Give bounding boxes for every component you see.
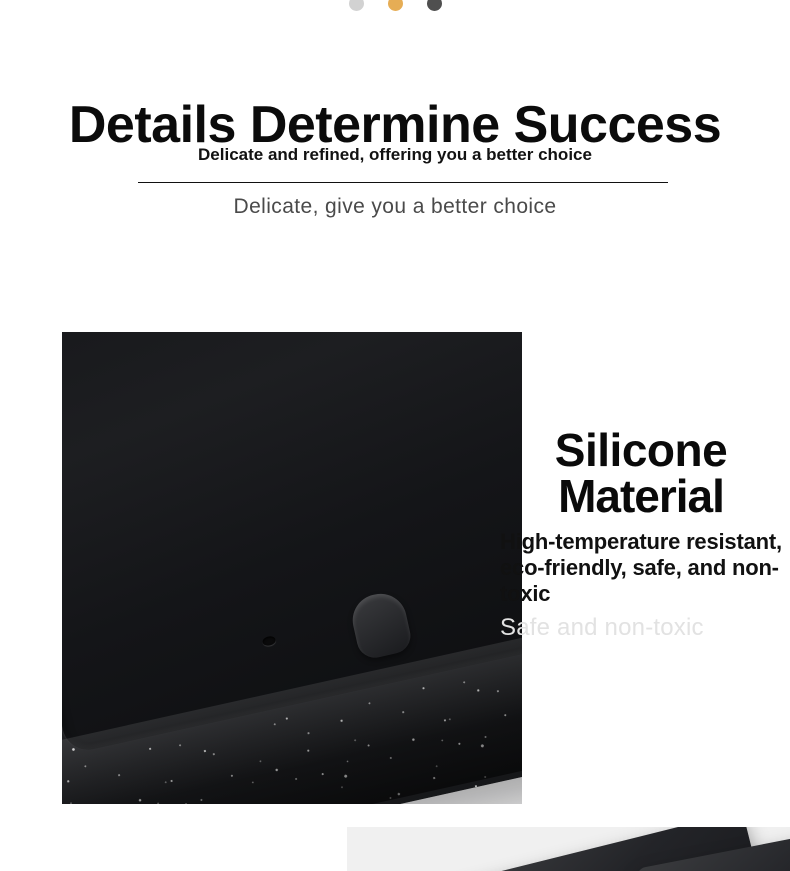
product-photo-main [62,332,522,804]
product-photo-secondary [347,827,790,871]
header-divider [138,182,668,183]
feature-description: High-temperature resistant, eco-friendly… [500,529,782,607]
indicator-dot-1[interactable] [349,0,364,11]
feature-title: Silicone Material [500,427,782,519]
indicator-dot-2[interactable] [388,0,403,11]
secondary-photo-scene [347,827,790,871]
feature-title-line-2: Material [500,473,782,519]
silicone-tray [62,332,522,804]
page-tagline: Delicate, give you a better choice [0,193,790,221]
photo-scene [62,332,522,804]
feature-subnote: Safe and non-toxic [500,614,782,642]
page-subtitle: Delicate and refined, offering you a bet… [0,144,790,166]
indicator-dot-3[interactable] [427,0,442,11]
feature-title-line-1: Silicone [555,424,727,476]
page-indicator-dots[interactable] [0,0,790,11]
feature-copy-block: Silicone Material High-temperature resis… [500,427,782,642]
